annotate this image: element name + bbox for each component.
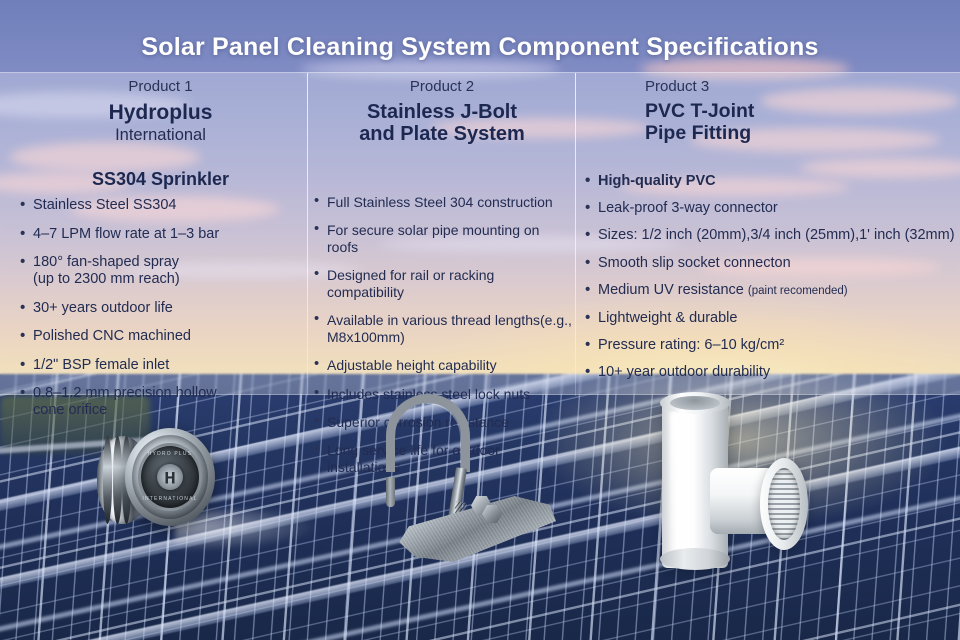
spec-item: Medium UV resistance (paint recomended) [583, 282, 955, 299]
sprinkler-face-disc: HYDRO PLUS INTERNATIONAL [125, 428, 215, 526]
spec-item: 30+ years outdoor life [18, 300, 303, 317]
jbolt-product-image [378, 392, 568, 562]
spec-item: 0.8–1.2 mm precision hollowcone orifice [18, 385, 303, 420]
spec-item: Smooth slip socket connecton [583, 255, 955, 272]
product-2-name-line2: and Plate System [312, 123, 572, 145]
spec-item: Stainless Steel SS304 [18, 197, 303, 214]
spec-item: Adjustable height capability [312, 357, 572, 374]
spec-item: Available in various thread lengths(e.g.… [312, 312, 572, 346]
spec-text: 30+ years outdoor life [33, 300, 173, 316]
tjoint-top-bore [670, 396, 720, 410]
product-2-name-line1: Stainless J-Bolt [312, 101, 572, 123]
spec-text: Sizes: 1/2 inch (20mm), [598, 227, 750, 243]
spec-text: Available in various thread lengths [327, 312, 540, 328]
sprinkler-logo-plate: HYDRO PLUS INTERNATIONAL [138, 443, 202, 511]
spec-text: 4–7 LPM flow rate at 1–3 bar [33, 226, 219, 242]
sprinkler-ring [103, 436, 112, 524]
brand-text-bottom: INTERNATIONAL [141, 496, 199, 502]
spec-text: Lightweight & durable [598, 310, 737, 326]
spec-item: 4–7 LPM flow rate at 1–3 bar [18, 226, 303, 243]
spec-item: Designed for rail or racking compatibili… [312, 267, 572, 301]
spec-item: For secure solar pipe mounting on roofs [312, 222, 572, 256]
product-3-name-line1: PVC T-Joint [645, 101, 955, 123]
tjoint-product-image [640, 392, 810, 577]
sprinkler-product-image: HYDRO PLUS INTERNATIONAL [97, 424, 213, 540]
product-1-spec-list: Stainless Steel SS304 4–7 LPM flow rate … [18, 197, 303, 420]
spec-note: (paint recomended) [748, 285, 848, 297]
infographic-canvas: Solar Panel Cleaning System Component Sp… [0, 0, 960, 640]
product-1-subtitle: International [18, 126, 303, 146]
spec-item: 1/2ʺ BSP female inlet [18, 357, 303, 374]
brand-text-top: HYDRO PLUS [141, 451, 199, 457]
spec-text: Leak-proof 3-way connector [598, 200, 778, 216]
spec-item: Pressure rating: 6–10 kg/cm² [583, 337, 955, 354]
product-1-name: Hydroplus [18, 101, 303, 125]
spec-text: 180° fan-shaped spray [33, 254, 179, 270]
tjoint-threaded-socket [768, 468, 800, 540]
sprinkler-ring [113, 436, 122, 524]
spec-text: Smooth slip socket connecton [598, 255, 791, 271]
spec-text: 0.8–1.2 mm precision hollow [33, 385, 217, 401]
brand-emblem-icon [157, 464, 183, 490]
product-2-name: Stainless J-Bolt and Plate System [312, 101, 572, 146]
product-column-1: Product 1 Hydroplus International SS304 … [18, 78, 303, 431]
jbolt-hook [386, 394, 470, 472]
product-3-spec-list: High-quality PVC Leak-proof 3-way connec… [583, 173, 955, 382]
spec-text-cont: 3/4 inch (25mm), [750, 227, 859, 243]
column-divider-1 [307, 73, 308, 396]
product-3-name-line2: Pipe Fitting [645, 123, 955, 145]
spec-text: Full Stainless Steel 304 construction [327, 194, 553, 210]
water-spray [175, 510, 325, 552]
spec-item: 180° fan-shaped spray(up to 2300 mm reac… [18, 254, 303, 289]
spec-text: Designed for rail or racking compatibili… [327, 267, 494, 300]
column-divider-2 [575, 73, 576, 396]
spec-text-cont2: 1' inch (32mm) [859, 227, 954, 243]
spec-text-cont: cone orifice [33, 402, 303, 419]
spec-item: Sizes: 1/2 inch (20mm),3/4 inch (25mm),1… [583, 227, 955, 244]
spec-text: Adjustable height capability [327, 357, 497, 373]
tjoint-bottom-rim [660, 548, 730, 570]
product-1-label: Product 1 [18, 78, 303, 95]
spec-item: High-quality PVC [583, 173, 955, 190]
spec-text: Medium UV resistance [598, 282, 744, 298]
spec-text: High-quality PVC [598, 173, 716, 189]
product-column-3: Product 3 PVC T-Joint Pipe Fitting High-… [583, 78, 955, 392]
spec-text: For secure solar pipe mounting on roofs [327, 222, 539, 255]
spec-item: Leak-proof 3-way connector [583, 200, 955, 217]
spec-item: Lightweight & durable [583, 310, 955, 327]
spec-item: 10+ year outdoor durability [583, 364, 955, 381]
spec-text: Polished CNC machined [33, 328, 191, 344]
spec-text: 10+ year outdoor durability [598, 364, 770, 380]
tjoint-highlight [670, 412, 677, 552]
spec-text: 1/2ʺ BSP female inlet [33, 357, 169, 373]
spec-item: Full Stainless Steel 304 construction [312, 194, 572, 211]
product-3-name: PVC T-Joint Pipe Fitting [583, 101, 955, 145]
spec-item: Polished CNC machined [18, 328, 303, 345]
spec-text-cont: (up to 2300 mm reach) [33, 271, 303, 288]
page-title: Solar Panel Cleaning System Component Sp… [0, 33, 960, 62]
spec-text: Stainless Steel SS304 [33, 197, 176, 213]
product-3-label: Product 3 [583, 78, 955, 95]
product-2-label: Product 2 [312, 78, 572, 95]
spec-text: Pressure rating: 6–10 kg/cm² [598, 337, 784, 353]
product-1-section-heading: SS304 Sprinkler [92, 169, 229, 189]
